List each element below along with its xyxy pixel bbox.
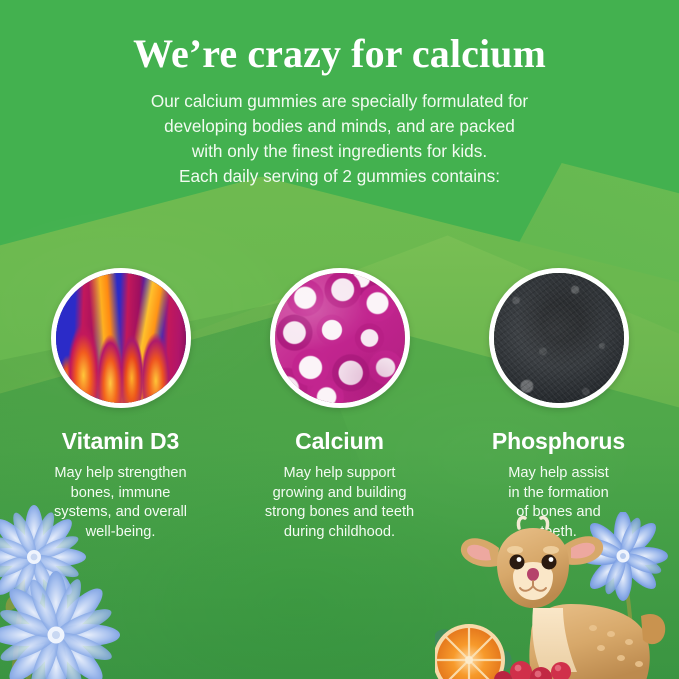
desc-line: of bones and xyxy=(470,503,648,523)
desc-line: well-being. xyxy=(32,523,210,543)
intro-line-3: with only the finest ingredients for kid… xyxy=(94,139,586,164)
intro-line-2: developing bodies and minds, and are pac… xyxy=(94,114,586,139)
nutrient-description-calcium: May help support growing and building st… xyxy=(251,464,429,542)
desc-line: May help support xyxy=(251,464,429,484)
intro-paragraph: Our calcium gummies are specially formul… xyxy=(94,89,586,189)
phosphorus-image-circle xyxy=(489,268,629,408)
desc-line: May help assist xyxy=(470,464,648,484)
nutrient-description-vitamin-d3: May help strengthen bones, immune system… xyxy=(32,464,210,542)
phosphorus-mineral-texture-icon xyxy=(492,271,626,405)
nutrient-description-phosphorus: May help assist in the formation of bone… xyxy=(470,464,648,542)
nutrient-card-vitamin-d3: Vitamin D3 May help strengthen bones, im… xyxy=(16,268,225,542)
nutrient-name-phosphorus: Phosphorus xyxy=(454,428,663,455)
desc-line: systems, and overall xyxy=(32,503,210,523)
calcium-histology-micrograph-icon xyxy=(273,271,407,405)
calcium-image-circle xyxy=(270,268,410,408)
nutrient-name-vitamin-d3: Vitamin D3 xyxy=(16,428,225,455)
intro-line-1: Our calcium gummies are specially formul… xyxy=(94,89,586,114)
vitamin-d3-image-circle xyxy=(51,268,191,408)
page-title: We’re crazy for calcium xyxy=(0,33,679,75)
desc-line: bones, immune xyxy=(32,484,210,504)
desc-line: strong bones and teeth xyxy=(251,503,429,523)
desc-line: May help strengthen xyxy=(32,464,210,484)
desc-line: during childhood. xyxy=(251,523,429,543)
nutrient-columns: Vitamin D3 May help strengthen bones, im… xyxy=(0,268,679,542)
nutrient-name-calcium: Calcium xyxy=(235,428,444,455)
nutrient-card-calcium: Calcium May help support growing and bui… xyxy=(235,268,444,542)
nutrient-card-phosphorus: Phosphorus May help assist in the format… xyxy=(454,268,663,542)
intro-line-4: Each daily serving of 2 gummies contains… xyxy=(94,164,586,189)
poster-header: We’re crazy for calcium Our calcium gumm… xyxy=(0,0,679,189)
desc-line: teeth. xyxy=(470,523,648,543)
vitamin-d3-thermal-micrograph-icon xyxy=(54,271,188,405)
desc-line: in the formation xyxy=(470,484,648,504)
product-benefits-poster: We’re crazy for calcium Our calcium gumm… xyxy=(0,0,679,679)
desc-line: growing and building xyxy=(251,484,429,504)
